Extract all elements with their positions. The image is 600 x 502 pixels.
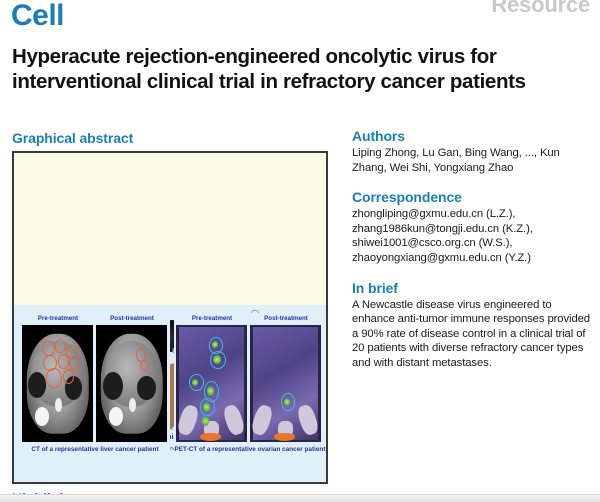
pet-bladder bbox=[274, 433, 295, 441]
correspondence-email[interactable]: zhang1986kun@tongji.edu.cn (K.Z.), bbox=[352, 223, 533, 235]
browser-bottom-bar bbox=[0, 494, 600, 502]
in-brief-text: A Newcastle disease virus engineered to … bbox=[352, 298, 590, 371]
correspondence-emails: zhongliping@gxmu.edu.cn (L.Z.), zhang198… bbox=[352, 207, 590, 265]
petct-post-label: Post-treatment bbox=[250, 315, 322, 322]
correspondence-email[interactable]: zhongliping@gxmu.edu.cn (L.Z.), bbox=[352, 208, 515, 220]
schematic-panel bbox=[14, 153, 326, 305]
ct-pre-label: Pre-treatment bbox=[22, 315, 94, 322]
imaging-group-petct-ovarian: Pre-treatment Post-treatment bbox=[174, 313, 326, 460]
lesion-marker bbox=[46, 368, 62, 388]
pet-lesion-ring bbox=[200, 398, 215, 416]
authors-heading: Authors bbox=[352, 128, 590, 144]
correspondence-email[interactable]: zhaoyongxiang@gxmu.edu.cn (Y.Z.) bbox=[352, 252, 531, 264]
cell-journal-logo: Cell bbox=[11, 1, 64, 31]
correspondence-heading: Correspondence bbox=[352, 189, 590, 205]
authors-list: Liping Zhong, Lu Gan, Bing Wang, ..., Ku… bbox=[352, 146, 590, 175]
ct-group-caption: CT of a representative liver cancer pati… bbox=[20, 446, 170, 453]
graphical-abstract-heading: Graphical abstract bbox=[12, 130, 133, 146]
ct-post-label: Post-treatment bbox=[96, 315, 168, 322]
page-title: Hyperacute rejection-engineered oncolyti… bbox=[12, 44, 572, 94]
lesion-marker bbox=[42, 341, 55, 356]
graphical-abstract-figure[interactable]: Intravenous injection Preclinical study … bbox=[12, 151, 328, 484]
petct-scan-post[interactable] bbox=[250, 325, 321, 442]
pet-lesion-ring bbox=[189, 374, 204, 391]
article-sidebar: Authors Liping Zhong, Lu Gan, Bing Wang,… bbox=[352, 128, 590, 385]
ct-scan-pre[interactable] bbox=[22, 325, 93, 442]
petct-scan-pre[interactable] bbox=[176, 325, 247, 442]
correspondence-email[interactable]: shiwei1001@csco.org.cn (W.S.), bbox=[352, 237, 512, 249]
article-page: Cell Resource Hyperacute rejection-engin… bbox=[0, 0, 600, 502]
ct-scan-post[interactable] bbox=[96, 325, 167, 442]
imaging-group-ct-liver: Pre-treatment Post-treatment bbox=[20, 313, 170, 460]
pet-hotspot bbox=[202, 416, 209, 425]
petct-pre-label: Pre-treatment bbox=[176, 315, 248, 322]
lesion-marker bbox=[55, 339, 66, 353]
article-type-label: Resource bbox=[491, 0, 590, 18]
pet-bladder bbox=[200, 433, 221, 441]
in-brief-heading: In brief bbox=[352, 280, 590, 296]
correspondence-block: Correspondence zhongliping@gxmu.edu.cn (… bbox=[352, 189, 590, 265]
authors-block: Authors Liping Zhong, Lu Gan, Bing Wang,… bbox=[352, 128, 590, 175]
petct-group-caption: PET-CT of a representative ovarian cance… bbox=[174, 446, 326, 453]
in-brief-block: In brief A Newcastle disease virus engin… bbox=[352, 280, 590, 371]
